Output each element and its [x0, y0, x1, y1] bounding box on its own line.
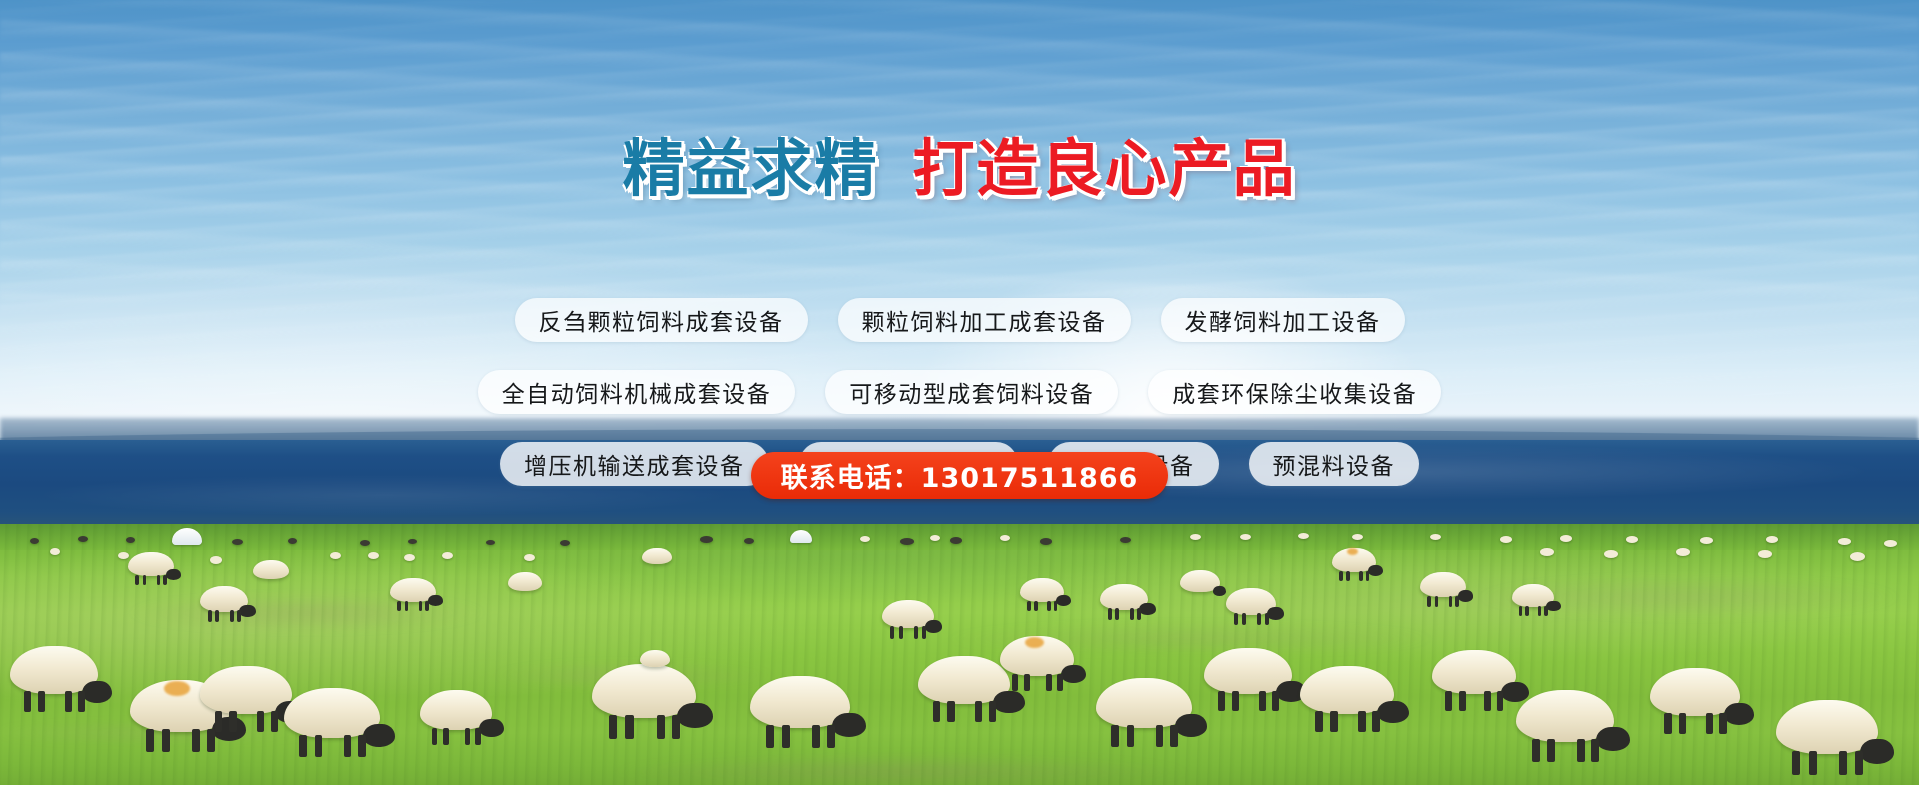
distant-animal [360, 540, 370, 546]
distant-sheep [1560, 535, 1572, 542]
sheep [642, 548, 672, 564]
distant-animal [408, 539, 417, 544]
sheep [1776, 700, 1878, 754]
sheep-lamb [640, 650, 670, 667]
sheep [1180, 570, 1220, 592]
category-pill[interactable]: 全自动饲料机械成套设备 [478, 370, 796, 414]
distant-animal [78, 536, 88, 542]
distant-sheep [1540, 548, 1554, 556]
distant-animal [744, 538, 754, 544]
category-pill[interactable]: 颗粒饲料加工成套设备 [838, 298, 1131, 342]
category-pill[interactable]: 可移动型成套饲料设备 [825, 370, 1118, 414]
yurt-tent [790, 530, 812, 543]
distant-animal [1120, 537, 1131, 543]
sheep [1204, 648, 1292, 694]
distant-sheep [1884, 540, 1897, 547]
sheep [1300, 666, 1394, 714]
sheep [128, 552, 174, 576]
distant-sheep [1352, 534, 1363, 540]
distant-sheep [210, 556, 222, 564]
distant-sheep [1626, 536, 1638, 543]
sheep [1100, 584, 1148, 610]
headline-slogan: 精益求精打造良心产品 [0, 138, 1919, 200]
distant-sheep [1758, 550, 1772, 558]
distant-sheep [1604, 550, 1618, 558]
sheep [882, 600, 934, 628]
distant-sheep [1190, 534, 1201, 540]
sheep [420, 690, 492, 730]
sheep [284, 688, 380, 738]
distant-sheep [1500, 536, 1512, 543]
contact-phone-button[interactable]: 联系电话：13017511866 [751, 452, 1169, 499]
sheep [1000, 636, 1074, 676]
distant-sheep [404, 554, 415, 561]
distant-sheep [524, 554, 535, 561]
distant-sheep [1850, 552, 1865, 561]
distant-animal [1040, 538, 1052, 545]
contact-phone-banner: 联系电话：13017511866 [0, 452, 1919, 499]
sheep [390, 578, 436, 602]
distant-animal [900, 538, 914, 545]
distant-sheep [1700, 537, 1713, 544]
distant-sheep [1676, 548, 1690, 556]
distant-sheep [1298, 533, 1309, 539]
distant-sheep [930, 535, 940, 541]
distant-sheep [368, 552, 379, 559]
category-pill-row-2: 全自动饲料机械成套设备 可移动型成套饲料设备 成套环保除尘收集设备 [0, 370, 1919, 414]
sheep [200, 586, 248, 612]
distant-sheep [442, 552, 453, 559]
sheep [508, 572, 542, 591]
distant-sheep [1766, 536, 1778, 543]
category-pill[interactable]: 反刍颗粒饲料成套设备 [515, 298, 808, 342]
sheep [1020, 578, 1064, 602]
sheep [918, 656, 1010, 704]
distant-sheep [50, 548, 60, 555]
distant-sheep [860, 536, 870, 542]
distant-animal [950, 537, 962, 544]
distant-sheep [330, 552, 341, 559]
headline-part-red: 打造良心产品 [913, 132, 1297, 205]
sheep [750, 676, 850, 728]
sheep [10, 646, 98, 694]
distant-sheep [1240, 534, 1251, 540]
distant-sheep [1430, 534, 1441, 540]
distant-animal [288, 538, 297, 544]
distant-sheep [1838, 538, 1851, 545]
sheep [1226, 588, 1276, 615]
distant-animal [232, 539, 243, 545]
distant-animal [486, 540, 495, 545]
distant-animal [560, 540, 570, 546]
sheep [1432, 650, 1516, 694]
category-pill[interactable]: 成套环保除尘收集设备 [1148, 370, 1441, 414]
headline-part-blue: 精益求精 [622, 132, 878, 205]
sheep [592, 664, 696, 718]
sheep [1650, 668, 1740, 716]
sheep [1516, 690, 1614, 742]
distant-animal [30, 538, 39, 544]
sheep [200, 666, 292, 714]
category-pill-row-1: 反刍颗粒饲料成套设备 颗粒饲料加工成套设备 发酵饲料加工设备 [0, 298, 1919, 342]
promo-banner: 精益求精打造良心产品 反刍颗粒饲料成套设备 颗粒饲料加工成套设备 发酵饲料加工设… [0, 0, 1919, 785]
sheep [1332, 548, 1376, 572]
distant-sheep [1000, 535, 1010, 541]
distant-animal [700, 536, 713, 543]
sheep [1096, 678, 1192, 728]
sheep [1420, 572, 1466, 597]
sheep [253, 560, 289, 579]
sheep [1512, 584, 1554, 607]
category-pill[interactable]: 发酵饲料加工设备 [1161, 298, 1405, 342]
distant-animal [126, 537, 135, 543]
